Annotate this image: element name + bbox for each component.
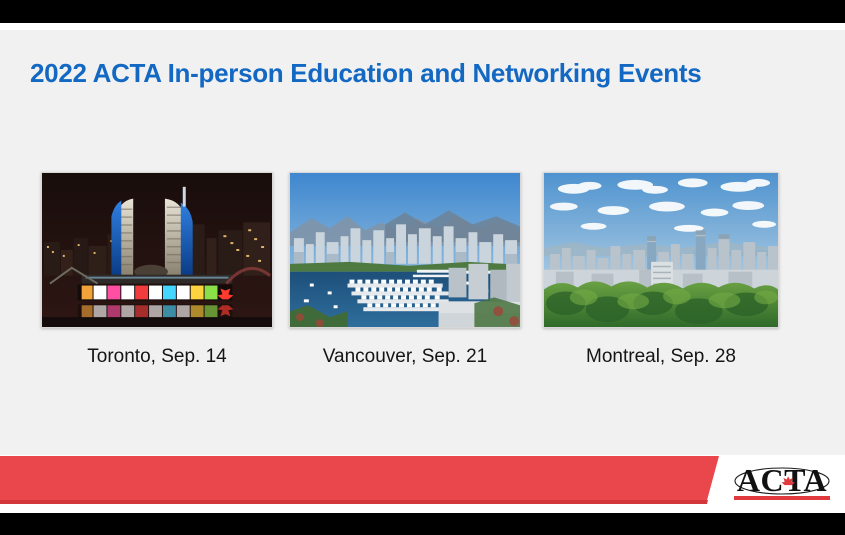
event-caption-toronto: Toronto, Sep. 14: [41, 346, 273, 368]
page-title: 2022 ACTA In-person Education and Networ…: [30, 58, 820, 89]
photo-montreal: [543, 172, 779, 328]
svg-text:ACTA: ACTA: [737, 462, 827, 498]
bottom-red-banner: [0, 455, 845, 505]
slide-root: 2022 ACTA In-person Education and Networ…: [0, 0, 845, 535]
acta-logo: ACTA: [726, 455, 838, 505]
events-row: Toronto, Sep. 14: [0, 172, 845, 402]
photo-toronto: [41, 172, 273, 328]
letterbox-top-white-line: [0, 23, 845, 30]
letterbox-top: [0, 0, 845, 23]
photo-vancouver: [289, 172, 521, 328]
event-card-montreal[interactable]: Montreal, Sep. 28: [543, 172, 779, 368]
event-card-toronto[interactable]: Toronto, Sep. 14: [41, 172, 273, 368]
letterbox-bottom-white-line: [0, 505, 845, 513]
slide-body: 2022 ACTA In-person Education and Networ…: [0, 30, 845, 505]
event-caption-vancouver: Vancouver, Sep. 21: [289, 346, 521, 368]
event-caption-montreal: Montreal, Sep. 28: [543, 346, 779, 368]
event-card-vancouver[interactable]: Vancouver, Sep. 21: [289, 172, 521, 368]
letterbox-bottom: [0, 513, 845, 535]
